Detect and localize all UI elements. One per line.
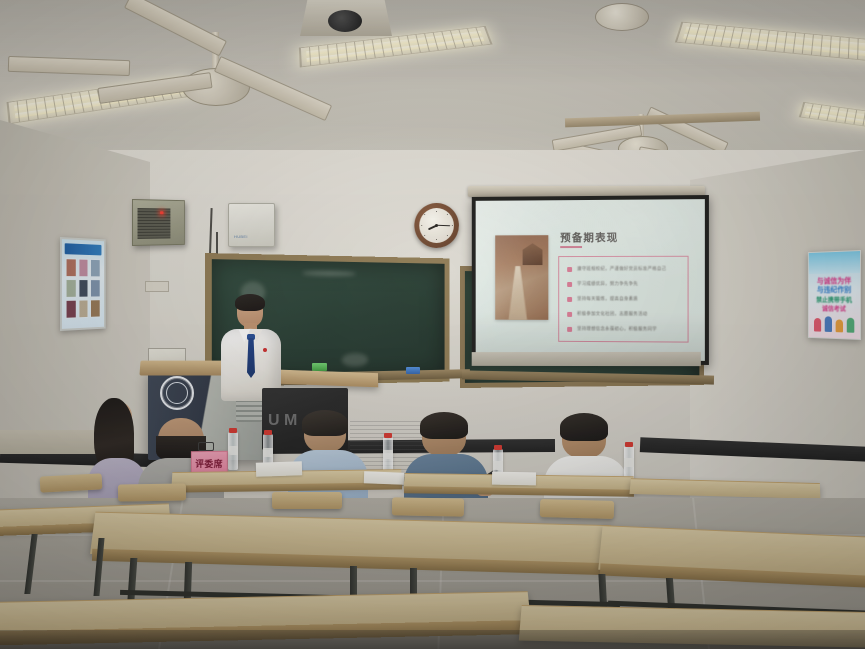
attendee-hair (560, 413, 608, 441)
necktie (247, 338, 255, 378)
water-bottle (624, 446, 634, 479)
ceiling-fan-left (60, 10, 320, 160)
smoke-detector-icon (595, 3, 649, 31)
lapel-pin-icon (263, 348, 267, 352)
poster-kids-illustration (812, 312, 856, 333)
speaker-mesh (138, 208, 171, 239)
cabinet-letter-u: U (268, 412, 280, 430)
wall-speaker: HUBEI (228, 203, 275, 247)
screen-glare (476, 199, 705, 361)
water-bottle (228, 432, 238, 470)
presentation-slide: 预备期表现 遵守班规校纪，严谨做好党员标准严格自己 学习成绩优异，努力争先争先 … (476, 199, 705, 361)
document-on-desk (364, 471, 404, 484)
clock-face (419, 208, 454, 243)
document-on-desk (492, 472, 536, 486)
classroom-photo: 与诚信为伴 与违纪作别 禁止携带手机 诚信考试 HUBEI (0, 0, 865, 649)
poster-photo-grid (66, 258, 101, 319)
chalk-eraser (312, 363, 327, 371)
dome-camera-icon (300, 0, 392, 36)
university-emblem-icon (160, 376, 194, 410)
chair-back (118, 483, 186, 501)
chair-back (40, 473, 103, 492)
attendee-hair (302, 410, 348, 436)
poster-header-band (65, 243, 102, 255)
poster-sky-band (809, 251, 860, 274)
projector-screen-bottom-bar (472, 352, 701, 366)
speaker-brand-label: HUBEI (234, 234, 248, 239)
chalk-eraser (406, 367, 420, 374)
attendee-hair (420, 412, 468, 439)
chair-back (540, 499, 614, 519)
clock-minute-hand (437, 225, 450, 227)
wall-outlet-icon (145, 281, 169, 292)
document-on-desk (256, 461, 302, 477)
judges-seat-sign-text: 评委席 (195, 456, 223, 469)
wall-clock (414, 203, 459, 248)
power-led-indicator (160, 211, 163, 214)
desk-shadow-underside (0, 630, 865, 649)
chair-back (392, 497, 464, 516)
eyeglasses-icon (198, 442, 214, 451)
water-bottle (383, 437, 393, 471)
student-presenter (219, 296, 283, 400)
chair-back (272, 492, 342, 509)
presenter-hair (235, 294, 265, 311)
projector-screen: 预备期表现 遵守班规校纪，严谨做好党员标准严格自己 学习成绩优异，努力争先争先 … (472, 195, 709, 365)
wall-amplifier-box (132, 199, 185, 246)
campus-photo-poster (60, 237, 106, 331)
exam-integrity-poster: 与诚信为伴 与违纪作别 禁止携带手机 诚信考试 (808, 250, 861, 340)
